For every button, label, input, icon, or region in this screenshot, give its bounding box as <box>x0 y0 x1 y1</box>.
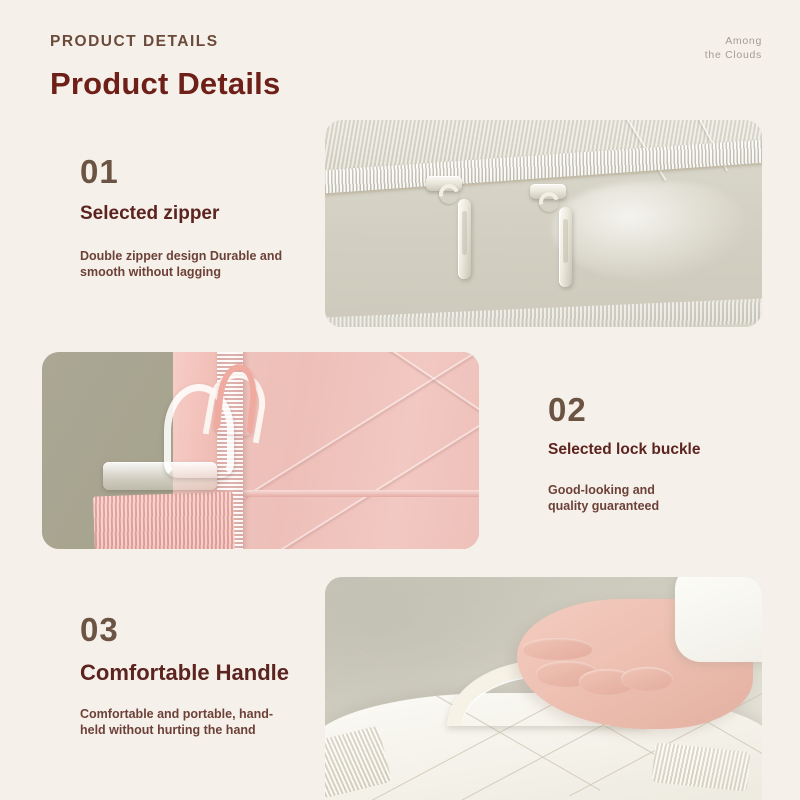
zipper-scene <box>325 120 762 327</box>
zipper-pull <box>458 199 471 279</box>
brand-line-1: Among <box>705 34 762 48</box>
detail-block-01: 01 Selected zipper Double zipper design … <box>80 155 315 280</box>
lock-buckle-photo <box>42 352 479 549</box>
detail-block-02: 02 Selected lock buckle Good-looking and… <box>548 393 701 514</box>
quilt-line <box>280 352 479 441</box>
buckle-scene <box>42 352 479 549</box>
thumb <box>522 638 593 660</box>
detail-number: 01 <box>80 155 315 188</box>
product-details-page: PRODUCT DETAILS Product Details Among th… <box>0 0 800 800</box>
detail-description: Double zipper design Durable and smooth … <box>80 248 315 280</box>
detail-number: 03 <box>80 613 295 646</box>
shirt-sleeve <box>675 577 762 662</box>
brand-line-2: the Clouds <box>705 48 762 62</box>
detail-number: 02 <box>548 393 701 426</box>
page-kicker: PRODUCT DETAILS <box>50 33 219 51</box>
detail-description: Good-looking and quality guaranteed <box>548 482 698 514</box>
page-title: Product Details <box>50 66 280 102</box>
brand-logo: Among the Clouds <box>705 34 762 62</box>
finger <box>621 667 673 692</box>
zipper-pull <box>559 207 572 287</box>
detail-block-03: 03 Comfortable Handle Comfortable and po… <box>80 613 295 738</box>
detail-headline: Comfortable Handle <box>80 660 295 686</box>
bag-piping <box>217 490 479 497</box>
zipper-detail-photo <box>325 120 762 327</box>
comfortable-handle-photo <box>325 577 762 800</box>
detail-headline: Selected zipper <box>80 203 315 226</box>
handle-scene <box>325 577 762 800</box>
detail-headline: Selected lock buckle <box>548 441 701 460</box>
quilt-line <box>265 352 479 549</box>
bag-strap <box>93 491 235 549</box>
detail-description: Comfortable and portable, hand-held with… <box>80 706 295 738</box>
